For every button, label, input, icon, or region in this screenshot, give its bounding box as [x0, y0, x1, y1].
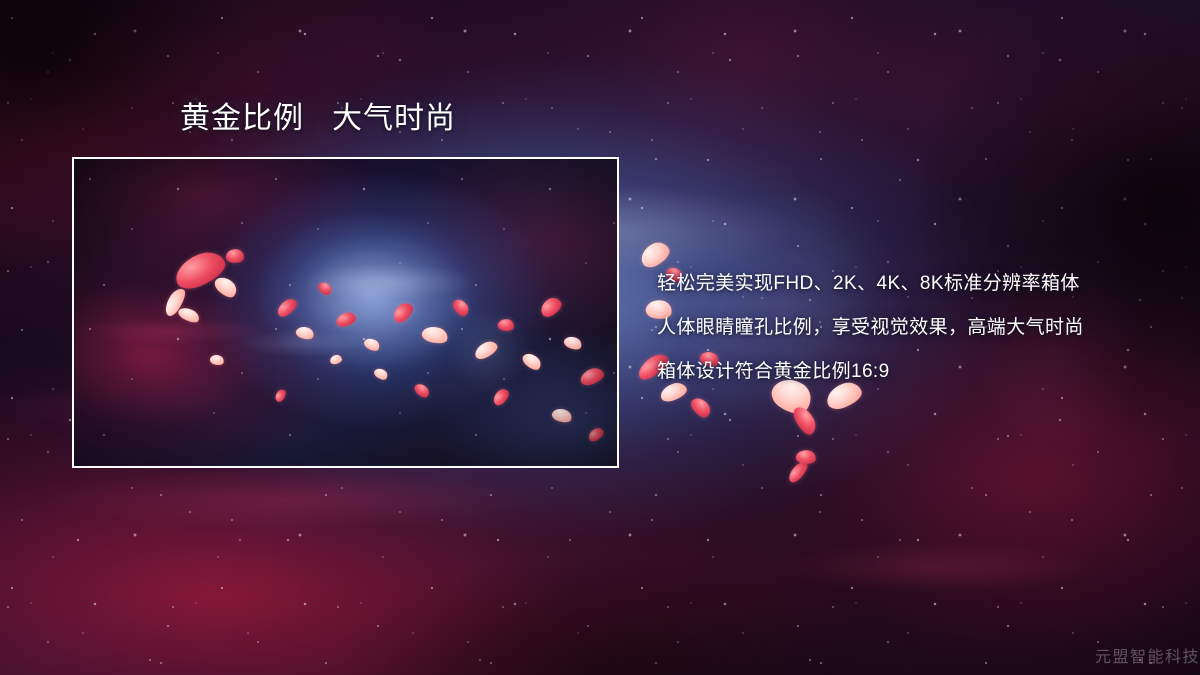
watermark: 元盟智能科技 — [1095, 643, 1200, 667]
photo-vignette — [74, 159, 617, 466]
petal — [785, 459, 810, 485]
page-title: 黄金比例 大气时尚 — [180, 102, 456, 136]
petal — [688, 394, 713, 421]
presentation-slide: 黄金比例 大气时尚 轻松完美实现FHD、2K、4K、8K标准分辨率箱体 人体眼睛… — [0, 0, 1200, 675]
body-line-2: 人体眼睛瞳孔比例，享受视觉效果，高端大气时尚 — [657, 306, 1177, 350]
body-copy-block: 轻松完美实现FHD、2K、4K、8K标准分辨率箱体 人体眼睛瞳孔比例，享受视觉效… — [657, 262, 1177, 394]
body-line-3: 箱体设计符合黄金比例16:9 — [657, 350, 1177, 394]
petal — [795, 448, 817, 465]
body-line-1: 轻松完美实现FHD、2K、4K、8K标准分辨率箱体 — [657, 262, 1177, 306]
framed-photo — [72, 157, 619, 468]
petal — [790, 403, 819, 437]
